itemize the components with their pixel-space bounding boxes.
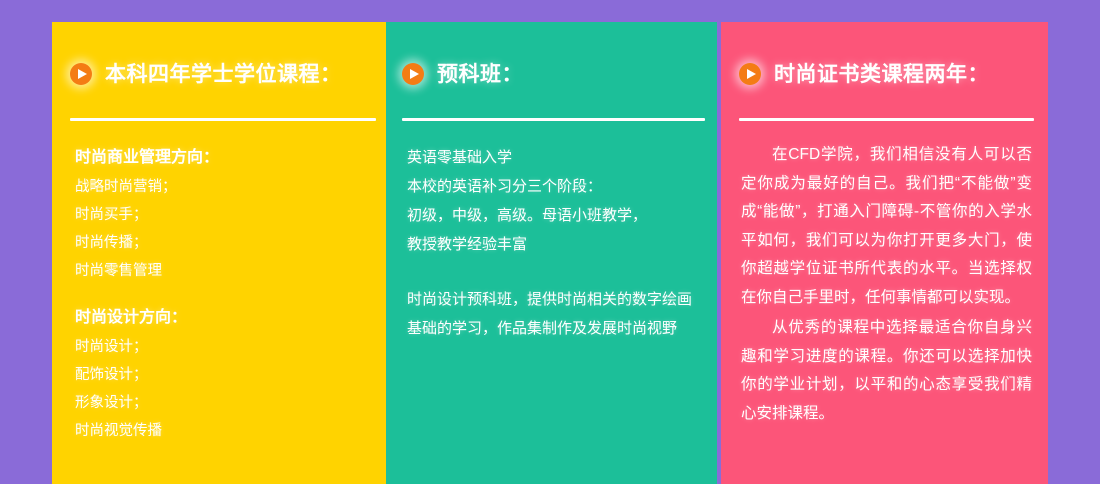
group-title-business: 时尚商业管理方向： [70,143,370,173]
card-body-certificate: 在CFD学院，我们相信没有人可以否定你成为最好的自己。我们把“不能做”变成“能做… [721,121,1048,428]
play-circle-icon [739,63,761,85]
card-body-foundation: 英语零基础入学 本校的英语补习分三个阶段： 初级，中级，高级。母语小班教学， 教… [386,121,717,343]
card-inner-certificate: 时尚证书类课程两年： [721,22,1048,118]
play-circle-icon [70,63,92,85]
card-title-foundation: 预科班： [437,64,523,85]
card-title-certificate: 时尚证书类课程两年： [774,64,989,85]
list-item: 时尚视觉传播 [70,417,370,445]
course-group-business: 时尚商业管理方向： 战略时尚营销； 时尚买手； 时尚传播； 时尚零售管理 [70,143,370,285]
card-inner-bachelor: 本科四年学士学位课程： [52,22,386,118]
course-card-certificate: 时尚证书类课程两年： 在CFD学院，我们相信没有人可以否定你成为最好的自己。我们… [721,22,1048,484]
card-header-bachelor: 本科四年学士学位课程： [70,22,370,118]
list-item: 配饰设计； [70,361,370,389]
list-item: 时尚传播； [70,229,370,257]
course-card-bachelor: 本科四年学士学位课程： 时尚商业管理方向： 战略时尚营销； 时尚买手； 时尚传播… [52,22,386,484]
list-item: 时尚零售管理 [70,257,370,285]
course-panels-board: 本科四年学士学位课程： 时尚商业管理方向： 战略时尚营销； 时尚买手； 时尚传播… [0,0,1100,484]
list-item: 战略时尚营销； [70,173,370,201]
paragraph-flexibility: 从优秀的课程中选择最适合你自身兴趣和学习进度的课程。你还可以选择加快你的学业计划… [739,314,1034,428]
course-card-foundation: 预科班： 英语零基础入学 本校的英语补习分三个阶段： 初级，中级，高级。母语小班… [386,22,717,484]
card-header-foundation: 预科班： [402,22,699,118]
group-title-design: 时尚设计方向： [70,303,370,333]
list-item: 时尚买手； [70,201,370,229]
play-circle-icon [402,63,424,85]
card-header-certificate: 时尚证书类课程两年： [739,22,1034,118]
paragraph-english: 英语零基础入学 本校的英语补习分三个阶段： 初级，中级，高级。母语小班教学， 教… [402,143,699,259]
card-title-bachelor: 本科四年学士学位课程： [105,64,342,85]
list-item: 时尚设计； [70,333,370,361]
paragraph-philosophy: 在CFD学院，我们相信没有人可以否定你成为最好的自己。我们把“不能做”变成“能做… [739,141,1034,312]
card-body-bachelor: 时尚商业管理方向： 战略时尚营销； 时尚买手； 时尚传播； 时尚零售管理 时尚设… [52,121,386,445]
course-group-design: 时尚设计方向： 时尚设计； 配饰设计； 形象设计； 时尚视觉传播 [70,303,370,445]
list-item: 形象设计； [70,389,370,417]
card-inner-foundation: 预科班： [386,22,717,118]
paragraph-design-foundation: 时尚设计预科班，提供时尚相关的数字绘画基础的学习，作品集制作及发展时尚视野 [402,285,699,343]
